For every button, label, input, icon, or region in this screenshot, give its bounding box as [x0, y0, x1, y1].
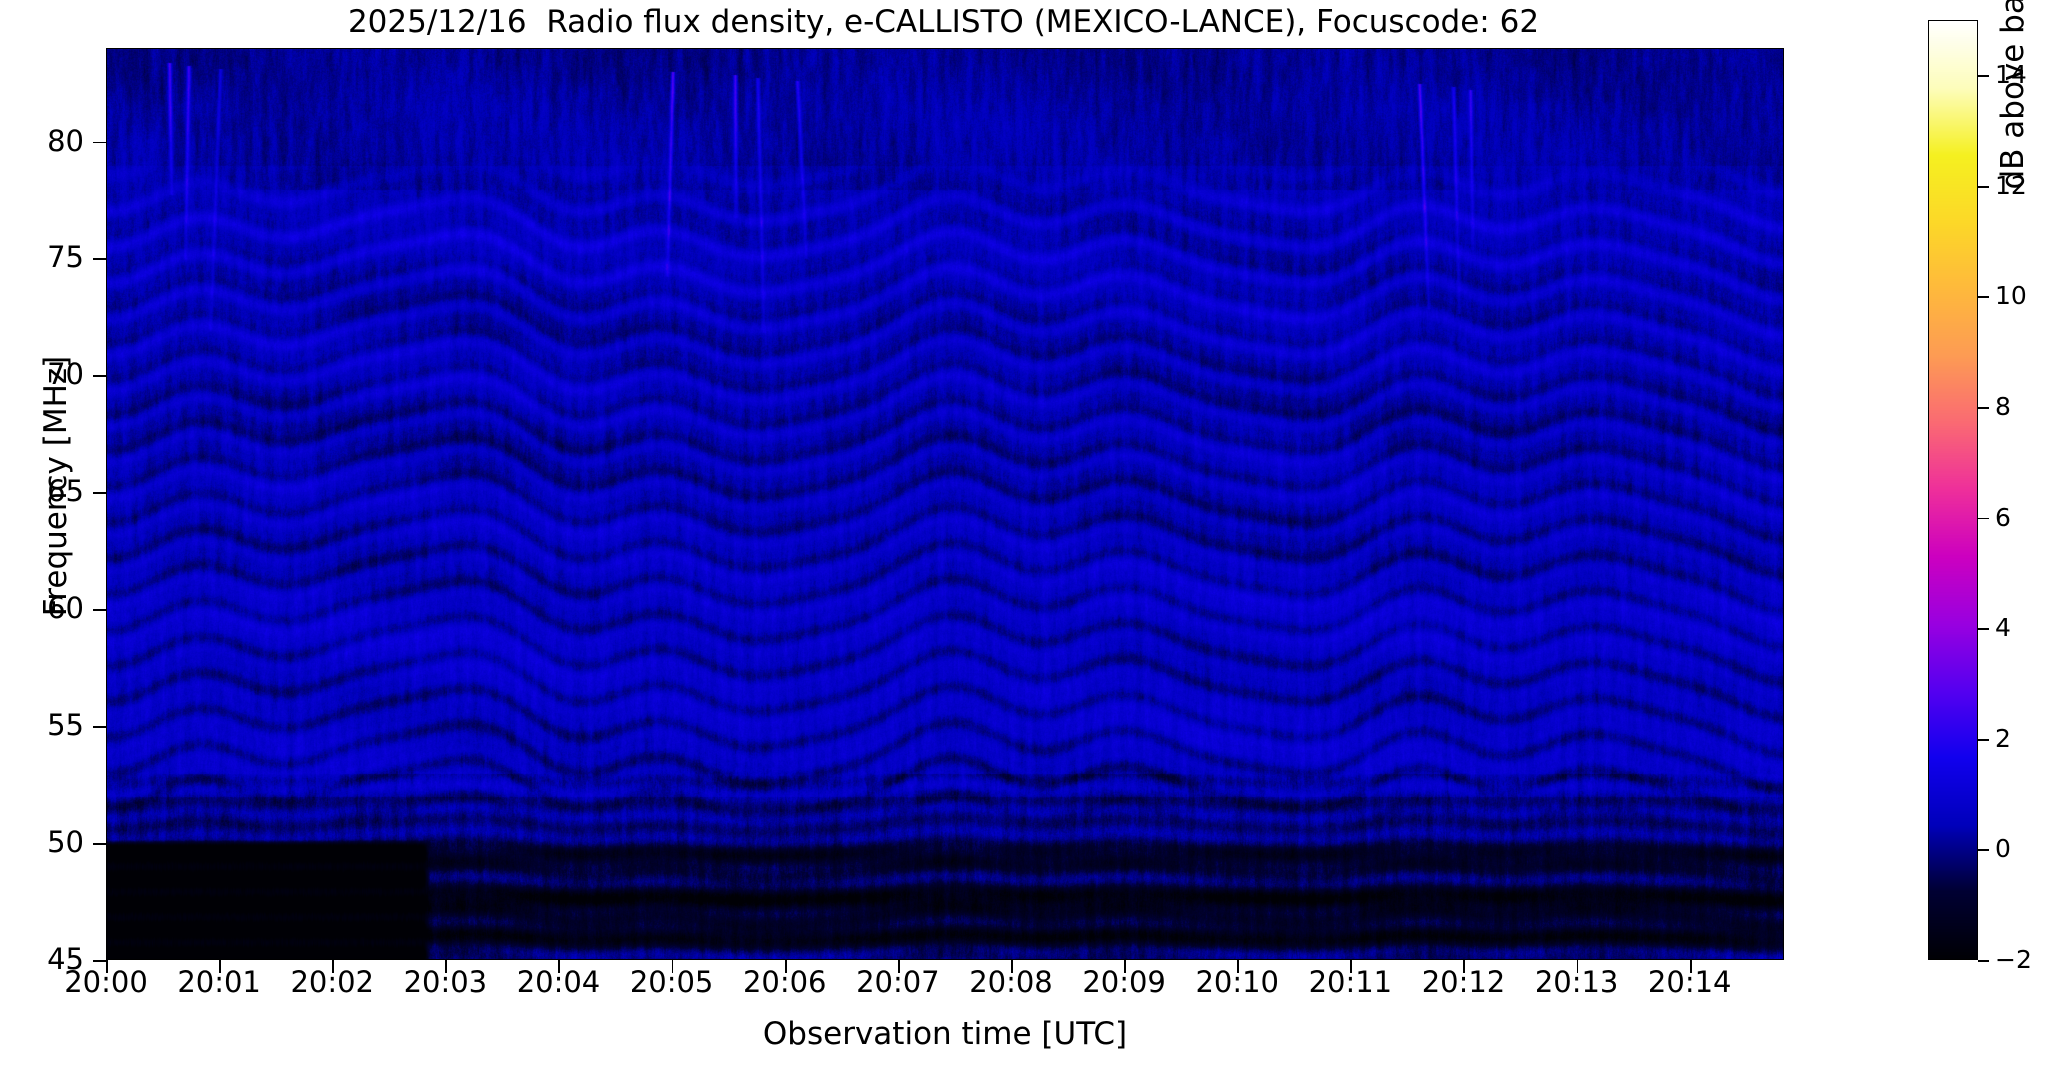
colorbar-tick-label: 6: [1995, 505, 2011, 530]
x-tick-mark: [219, 960, 221, 973]
x-axis-tick-labels: 20:0020:0120:0220:0320:0420:0520:0620:07…: [106, 960, 1784, 1006]
x-tick-mark: [1237, 960, 1239, 973]
colorbar[interactable]: [1928, 20, 1978, 960]
x-tick-mark: [558, 960, 560, 973]
y-tick-mark: [93, 258, 106, 260]
colorbar-tick-mark: [1978, 407, 1989, 409]
colorbar-tick-label: 2: [1995, 726, 2011, 751]
colorbar-tick-mark: [1978, 296, 1989, 298]
x-tick-mark: [1350, 960, 1352, 973]
y-tick-mark: [93, 609, 106, 611]
y-tick-mark: [93, 960, 106, 962]
colorbar-tick-mark: [1978, 739, 1989, 741]
colorbar-tick-label: 0: [1995, 836, 2011, 861]
x-tick-mark: [1577, 960, 1579, 973]
colorbar-gradient: [1929, 21, 1977, 959]
y-tick-mark: [93, 843, 106, 845]
colorbar-tick-label: −2: [1995, 947, 2032, 972]
colorbar-tick-mark: [1978, 518, 1989, 520]
x-tick-mark: [1690, 960, 1692, 973]
y-axis-title: Frequency [MHz]: [38, 30, 74, 942]
x-axis-title: Observation time [UTC]: [106, 1016, 1784, 1052]
colorbar-tick-mark: [1978, 960, 1989, 962]
colorbar-tick-label: 4: [1995, 615, 2011, 640]
x-tick-mark: [898, 960, 900, 973]
colorbar-title: dB above background: [1995, 0, 2031, 490]
colorbar-tick-mark: [1978, 628, 1989, 630]
x-tick-mark: [445, 960, 447, 973]
colorbar-tick-mark: [1978, 186, 1989, 188]
figure-canvas: 2025/12/16 Radio flux density, e-CALLIST…: [0, 0, 2047, 1067]
y-tick-mark: [93, 726, 106, 728]
spectrogram-axes[interactable]: [106, 48, 1784, 960]
x-tick-mark: [785, 960, 787, 973]
y-tick-mark: [93, 492, 106, 494]
x-tick-mark: [106, 960, 108, 973]
y-axis-title-holder: Frequency [MHz]: [0, 0, 40, 1067]
colorbar-tick-mark: [1978, 849, 1989, 851]
chart-title: 2025/12/16 Radio flux density, e-CALLIST…: [106, 4, 1781, 40]
colorbar-tick-mark: [1978, 75, 1989, 77]
y-tick-mark: [93, 375, 106, 377]
y-tick-mark: [93, 142, 106, 144]
x-tick-mark: [672, 960, 674, 973]
x-tick-mark: [1463, 960, 1465, 973]
x-tick-mark: [332, 960, 334, 973]
x-tick-mark: [1011, 960, 1013, 973]
x-tick-mark: [1124, 960, 1126, 973]
spectrogram-image: [107, 49, 1784, 960]
